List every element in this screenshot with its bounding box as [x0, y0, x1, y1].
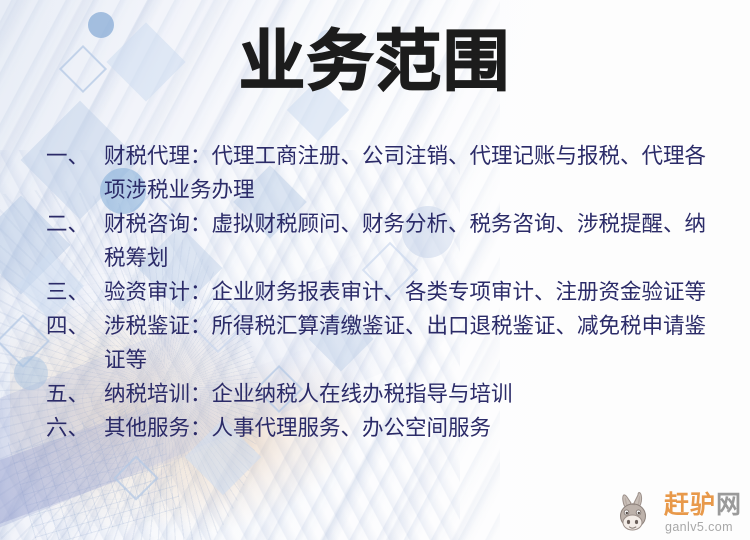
decor-circle	[14, 356, 48, 390]
watermark-brand-part1: 赶驴	[664, 490, 716, 519]
list-item-text: 纳税培训：企业纳税人在线办税指导与培训	[104, 382, 513, 407]
watermark-brand: 赶驴网	[664, 492, 742, 517]
presentation-slide: 业务范围 一、财税代理：代理工商注册、公司注销、代理记账与报税、代理各项涉税业务…	[0, 0, 750, 540]
decor-square-outline	[113, 455, 158, 500]
list-item-text: 涉税鉴证：所得税汇算清缴鉴证、出口退税鉴证、减免税申请鉴证等	[104, 314, 706, 373]
list-item-number: 六、	[46, 412, 104, 446]
page-title: 业务范围	[0, 27, 750, 96]
list-item: 四、涉税鉴证：所得税汇算清缴鉴证、出口退税鉴证、减免税申请鉴证等	[46, 310, 718, 378]
list-item-number: 一、	[46, 140, 104, 174]
watermark-brand-part2: 网	[716, 490, 742, 519]
list-item: 五、纳税培训：企业纳税人在线办税指导与培训	[46, 378, 718, 412]
decor-square-outline	[0, 314, 50, 368]
list-item-number: 二、	[46, 208, 104, 242]
watermark: 赶驴网 ganlv5.com	[618, 492, 742, 534]
list-item-number: 三、	[46, 276, 104, 310]
list-item-text: 财税代理：代理工商注册、公司注销、代理记账与报税、代理各项涉税业务办理	[104, 144, 706, 203]
list-item-text: 财税咨询：虚拟财税顾问、财务分析、税务咨询、涉税提醒、纳税筹划	[104, 212, 706, 271]
service-scope-list: 一、财税代理：代理工商注册、公司注销、代理记账与报税、代理各项涉税业务办理 二、…	[46, 140, 718, 446]
list-item-text: 其他服务：人事代理服务、办公空间服务	[104, 416, 491, 441]
watermark-url: ganlv5.com	[665, 520, 733, 534]
list-item-number: 五、	[46, 378, 104, 412]
list-item: 一、财税代理：代理工商注册、公司注销、代理记账与报税、代理各项涉税业务办理	[46, 140, 718, 208]
list-item: 三、验资审计：企业财务报表审计、各类专项审计、注册资金验证等	[46, 276, 718, 310]
donkey-icon	[618, 492, 658, 534]
list-item-number: 四、	[46, 310, 104, 344]
watermark-text: 赶驴网 ganlv5.com	[664, 492, 742, 534]
list-item-text: 验资审计：企业财务报表审计、各类专项审计、注册资金验证等	[104, 280, 706, 305]
list-item: 二、财税咨询：虚拟财税顾问、财务分析、税务咨询、涉税提醒、纳税筹划	[46, 208, 718, 276]
list-item: 六、其他服务：人事代理服务、办公空间服务	[46, 412, 718, 446]
